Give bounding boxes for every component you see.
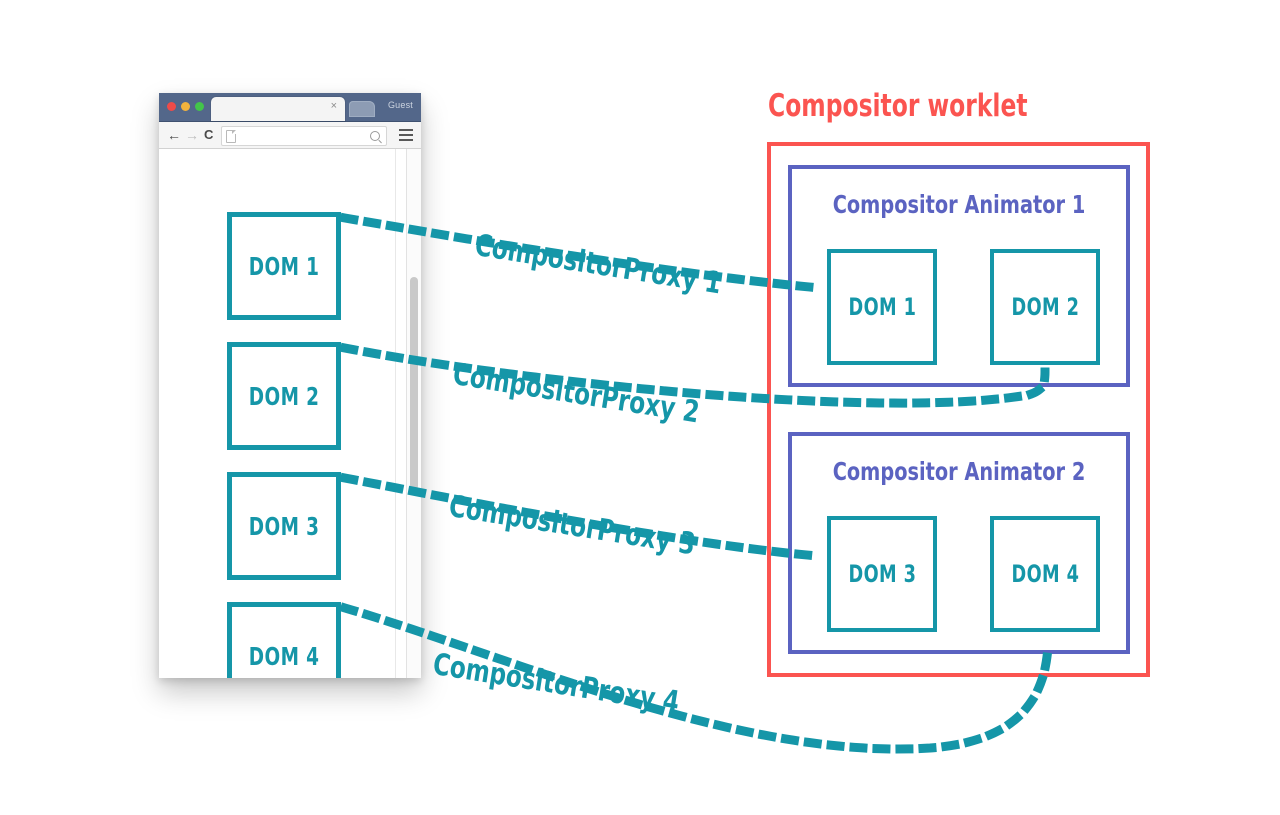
connector-label-proxy-3: CompositorProxy 3 [447,489,698,562]
animator-1-dom-box-1: DOM 1 [827,249,937,365]
hamburger-menu-icon[interactable] [399,129,413,144]
animator-title: Compositor Animator 2 [815,457,1102,486]
new-tab-button[interactable] [349,101,375,117]
browser-titlebar: × Guest [159,93,421,122]
dom-box-label: DOM 3 [249,512,320,541]
browser-toolbar: ← → C [159,122,421,149]
animator-2-dom-box-4: DOM 4 [990,516,1100,632]
compositor-animator-2: Compositor Animator 2 DOM 3 DOM 4 [788,432,1130,654]
browser-window: × Guest ← → C DOM 1 DOM 2 DOM 3 [159,93,421,678]
connector-label-proxy-2: CompositorProxy 2 [451,357,702,430]
dom-box-label: DOM 1 [848,293,916,321]
window-controls[interactable] [167,102,204,111]
dom-box-label: DOM 3 [848,560,916,588]
forward-arrow-icon[interactable]: → [185,127,199,143]
back-arrow-icon[interactable]: ← [167,127,181,143]
page-document-icon [226,130,236,143]
vertical-scrollbar[interactable] [406,149,421,678]
tab-close-icon[interactable]: × [331,101,337,112]
dom-box-2: DOM 2 [227,342,341,450]
scrollbar-thumb[interactable] [410,277,418,490]
dom-box-1: DOM 1 [227,212,341,320]
dom-box-label: DOM 4 [1011,560,1079,588]
reload-icon[interactable]: C [204,127,213,143]
search-icon[interactable] [370,131,380,141]
dom-box-3: DOM 3 [227,472,341,580]
close-window-icon[interactable] [167,102,176,111]
dom-box-label: DOM 4 [249,642,320,671]
browser-viewport: DOM 1 DOM 2 DOM 3 DOM 4 [159,149,421,678]
animator-title: Compositor Animator 1 [815,190,1102,219]
content-edge-divider [395,149,396,678]
maximize-window-icon[interactable] [195,102,204,111]
profile-label[interactable]: Guest [388,100,413,110]
dom-box-label: DOM 2 [1011,293,1079,321]
browser-tab[interactable]: × [211,97,345,121]
compositor-animator-1: Compositor Animator 1 DOM 1 DOM 2 [788,165,1130,387]
animator-2-dom-box-3: DOM 3 [827,516,937,632]
connector-label-proxy-1: CompositorProxy 1 [473,228,724,301]
diagram-canvas: × Guest ← → C DOM 1 DOM 2 DOM 3 [0,0,1280,815]
compositor-worklet-title: Compositor worklet [768,88,1028,124]
dom-box-label: DOM 2 [249,382,320,411]
animator-1-dom-box-2: DOM 2 [990,249,1100,365]
address-bar[interactable] [221,126,387,146]
dom-box-label: DOM 1 [249,252,320,281]
connector-label-proxy-4: CompositorProxy 4 [431,647,682,720]
minimize-window-icon[interactable] [181,102,190,111]
dom-box-4: DOM 4 [227,602,341,678]
